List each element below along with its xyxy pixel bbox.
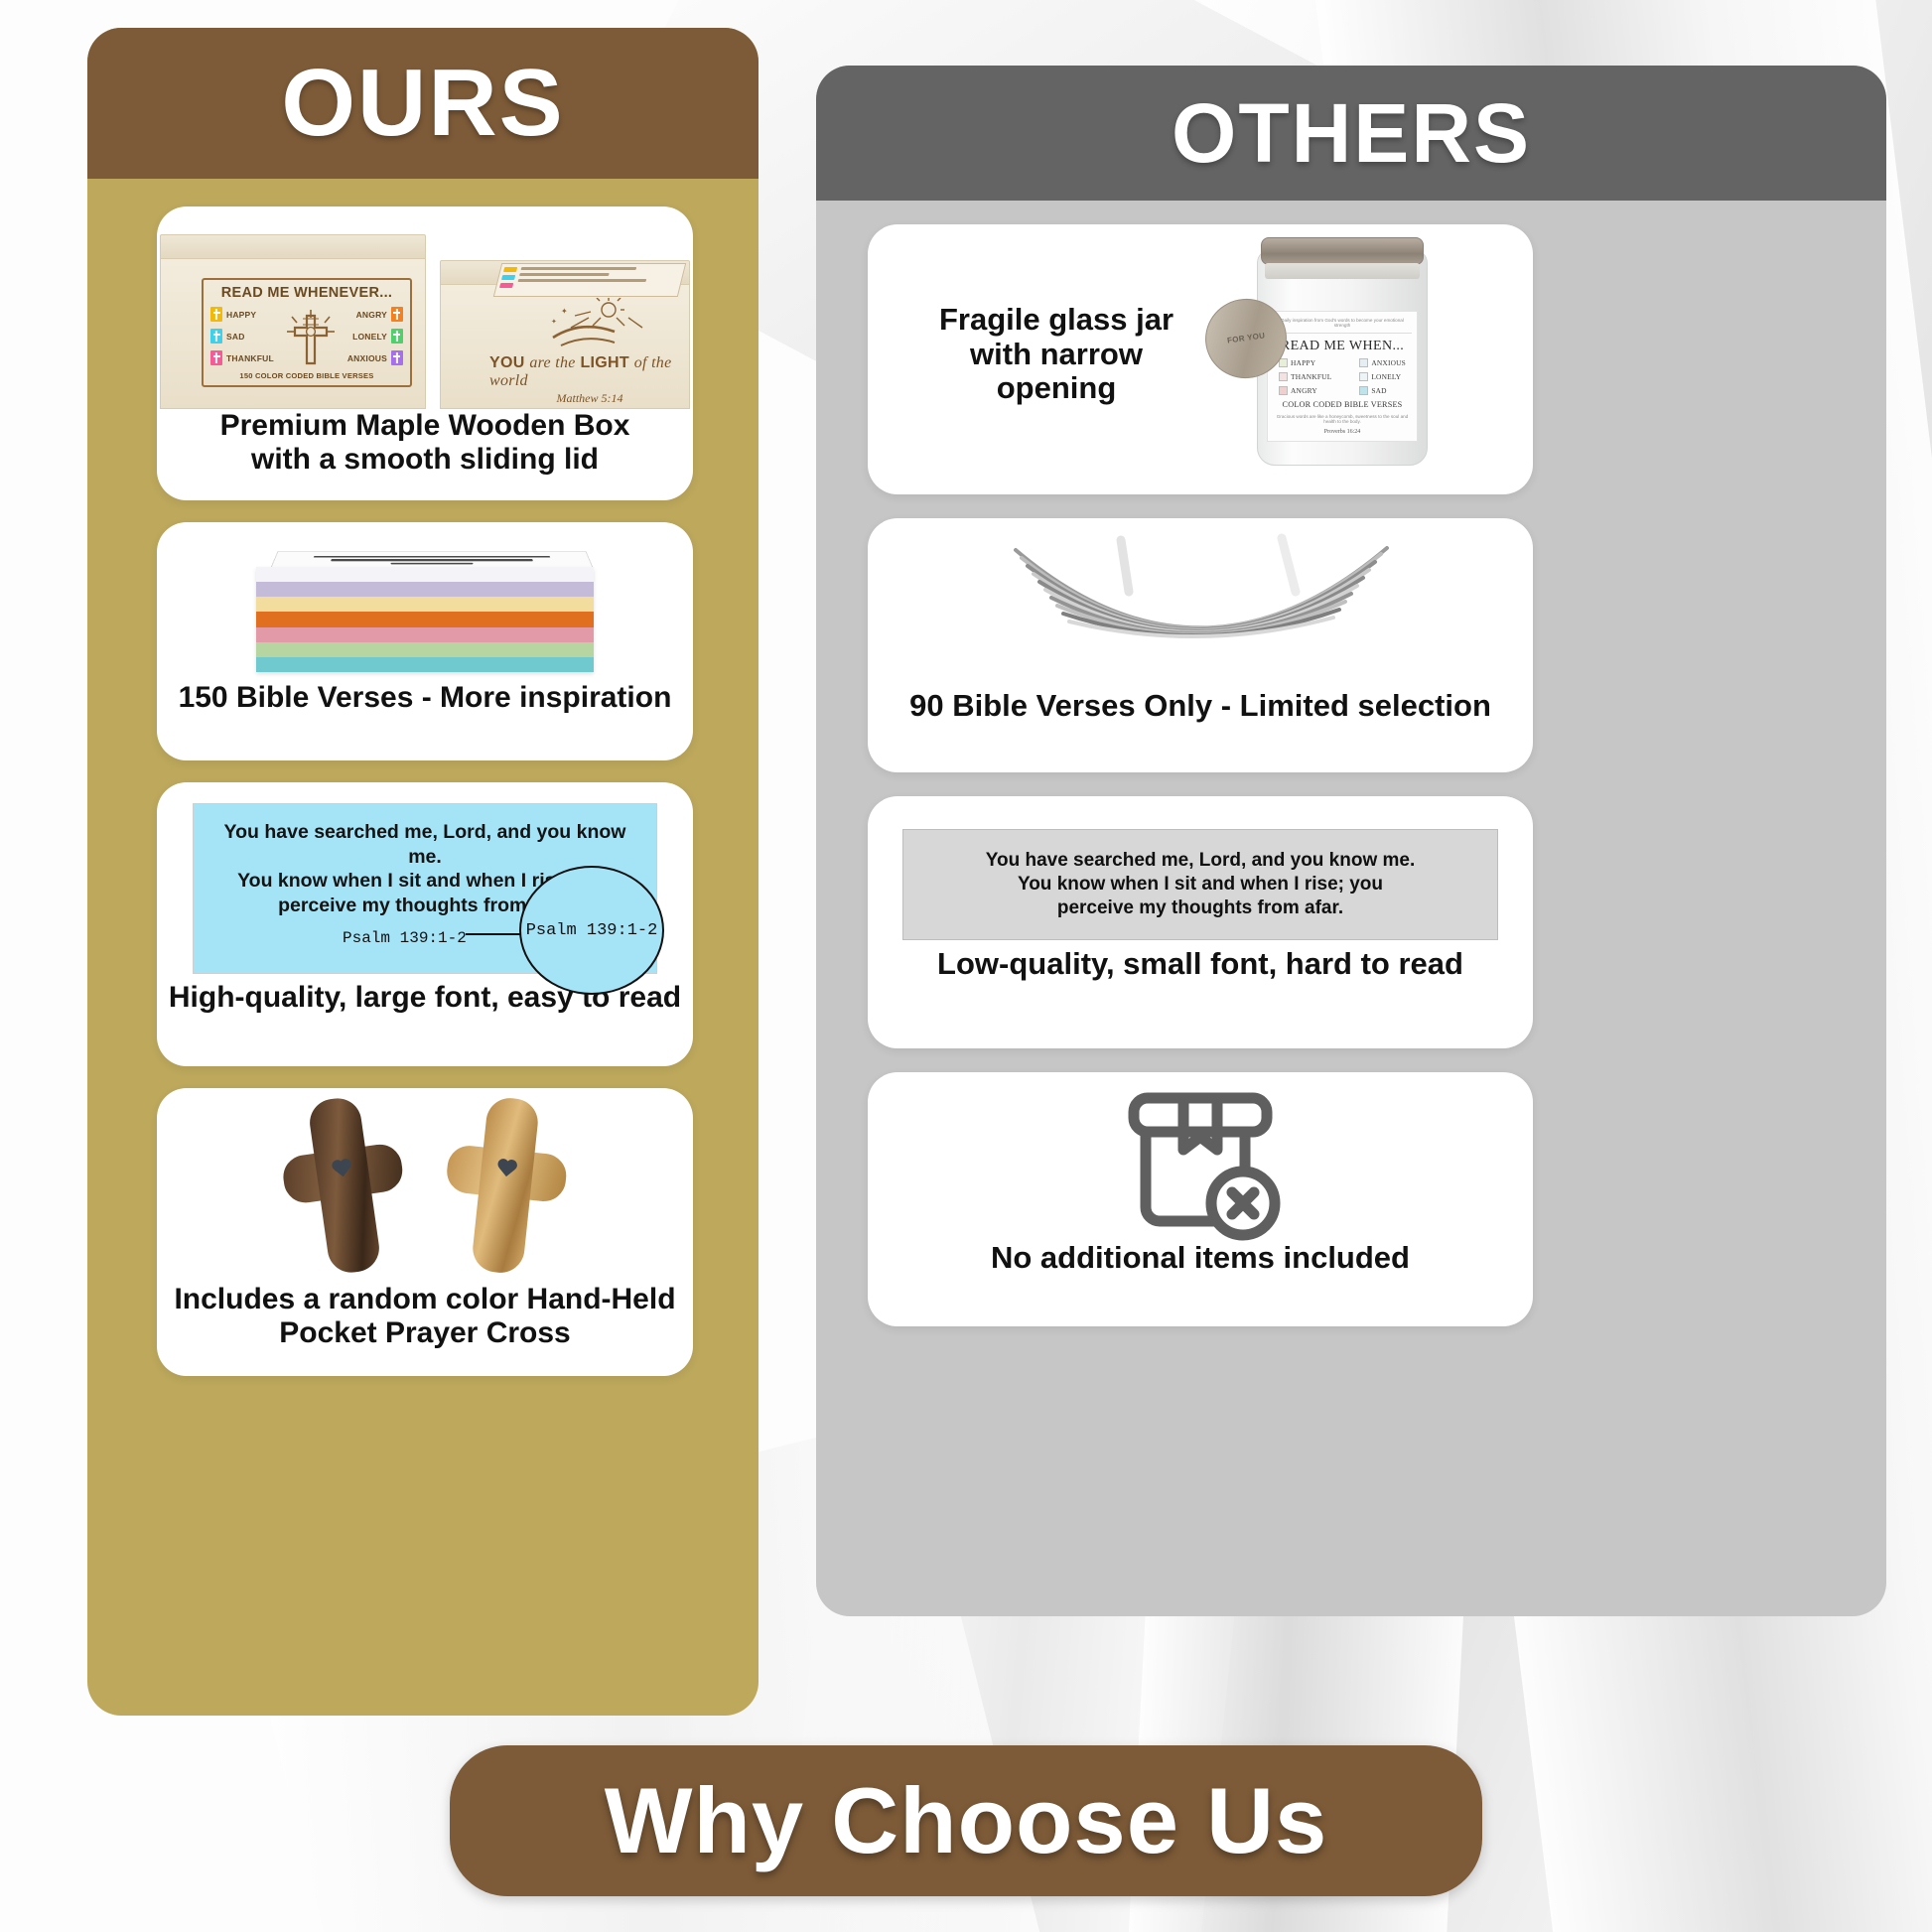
wooden-box-angled-icon: ✦ ✦ YOU are the LIGHT of the world Matth… [440,260,690,409]
others-card-2-caption: 90 Bible Verses Only - Limited selection [909,689,1491,724]
prayer-cross-image [157,1088,693,1283]
jar-label: Daily inspiration from God's words to be… [1267,311,1418,442]
others-card-1-caption: Fragile glass jar with narrow opening [907,303,1205,406]
others-card-3-caption: Low-quality, small font, hard to read [937,947,1463,982]
callout-reference-text: Psalm 139:1-2 [526,921,658,940]
ours-card-font-quality[interactable]: You have searched me, Lord, and you know… [157,782,693,1066]
others-card-font-quality[interactable]: You have searched me, Lord, and you know… [868,796,1533,1048]
verse-line-3: perceive my thoughts from afar. [986,897,1416,920]
light-text-reference: Matthew 5:14 [557,391,623,406]
prayer-cross-light-icon [437,1092,574,1279]
jar-lid-icon [1261,237,1424,265]
light-text-you: YOU [489,354,525,371]
caption-line-1: 90 Bible Verses Only - Limited selection [909,689,1491,724]
jar-mood: THANKFUL [1291,372,1331,381]
svg-text:✦: ✦ [561,307,568,316]
ours-card-2-caption: 150 Bible Verses - More inspiration [179,681,672,715]
light-text-arethe: are the [529,354,575,371]
ours-column-header: OURS [87,28,759,179]
jar-tag-text: FOR YOU [1226,332,1265,345]
ours-column: OURS READ ME WHENEVER... HAPPY SAD [87,28,759,1716]
jar-mood: LONELY [1371,372,1401,381]
fanned-gray-papers-image [1002,532,1399,681]
engraved-cross-icon [283,307,339,366]
caption-line-2: Pocket Prayer Cross [174,1316,675,1350]
mood-label: THANKFUL [226,353,274,363]
mood-label: HAPPY [226,310,256,320]
caption-line-2: with a smooth sliding lid [220,443,630,477]
caption-line-1: No additional items included [991,1241,1410,1276]
jar-label-title: READ ME WHEN... [1281,339,1404,354]
box-panel-title: READ ME WHENEVER... [221,285,392,301]
others-column-header: OTHERS [816,66,1886,201]
jar-micro-top: Daily inspiration from God's words to be… [1273,318,1412,328]
others-card-4-caption: No additional items included [991,1241,1410,1276]
jar-mood: SAD [1371,386,1386,395]
jar-mood: ANGRY [1291,386,1317,395]
verse-line-1: You have searched me, Lord, and you know… [207,820,642,869]
verse-line-1: You have searched me, Lord, and you know… [986,849,1416,873]
light-text-light: LIGHT [580,354,629,371]
jar-micro-bottom: Gracious words are like a honeycomb, swe… [1273,414,1412,424]
jar-mood: ANXIOUS [1371,358,1406,367]
jar-label-reference: Proverbs 16:24 [1324,429,1361,435]
ours-card-4-caption: Includes a random color Hand-Held Pocket… [174,1283,675,1349]
jar-mood: HAPPY [1291,358,1315,367]
banner-label: Why Choose Us [605,1767,1328,1874]
others-column: OTHERS Fragile glass jar with narrow ope… [816,66,1886,1616]
caption-line-1: 150 Bible Verses - More inspiration [179,681,672,715]
box-with-x-icon [1118,1084,1283,1243]
verse-reference-callout: Psalm 139:1-2 [519,866,664,995]
ours-card-verse-count[interactable]: 150 Bible Verses - More inspiration [157,522,693,760]
verse-reference: Psalm 139:1-2 [343,929,467,947]
caption-line-1: Low-quality, small font, hard to read [937,947,1463,982]
wooden-box-image: READ ME WHENEVER... HAPPY SAD THANKFUL [157,207,693,409]
mood-label: SAD [226,332,245,342]
verse-sample-blue: You have searched me, Lord, and you know… [193,803,657,974]
box-panel-subtitle: 150 COLOR CODED BIBLE VERSES [239,371,373,380]
others-card-verse-count[interactable]: 90 Bible Verses Only - Limited selection [868,518,1533,772]
caption-line-1: Premium Maple Wooden Box [220,409,630,443]
others-header-label: OTHERS [1172,91,1531,175]
ours-header-label: OURS [281,56,564,151]
mood-label: ANXIOUS [347,353,387,363]
wooden-box-front-icon: READ ME WHENEVER... HAPPY SAD THANKFUL [160,234,426,409]
ours-card-1-caption: Premium Maple Wooden Box with a smooth s… [220,409,630,476]
ours-card-wooden-box[interactable]: READ ME WHENEVER... HAPPY SAD THANKFUL [157,207,693,500]
why-choose-us-banner[interactable]: Why Choose Us [450,1745,1482,1896]
svg-text:✦: ✦ [551,318,557,326]
mood-label: LONELY [352,332,387,342]
jar-label-subtitle: COLOR CODED BIBLE VERSES [1283,400,1403,409]
sun-globe-engraving-icon: ✦ ✦ [531,298,648,353]
others-card-glass-jar[interactable]: Fragile glass jar with narrow opening Da… [868,224,1533,494]
caption-line-1: Includes a random color Hand-Held [174,1283,675,1316]
mood-label: ANGRY [356,310,387,320]
glass-jar-image: Daily inspiration from God's words to be… [1205,237,1453,472]
caption-line-1: Fragile glass jar [907,303,1205,338]
caption-line-2: with narrow opening [907,338,1205,406]
verse-sample-gray: You have searched me, Lord, and you know… [902,829,1498,940]
ours-card-prayer-cross[interactable]: Includes a random color Hand-Held Pocket… [157,1088,693,1376]
others-card-no-extras[interactable]: No additional items included [868,1072,1533,1326]
prayer-cross-dark-icon [273,1091,415,1281]
color-paper-stack-image [256,545,594,672]
verse-line-2: You know when I sit and when I rise; you [986,873,1416,897]
